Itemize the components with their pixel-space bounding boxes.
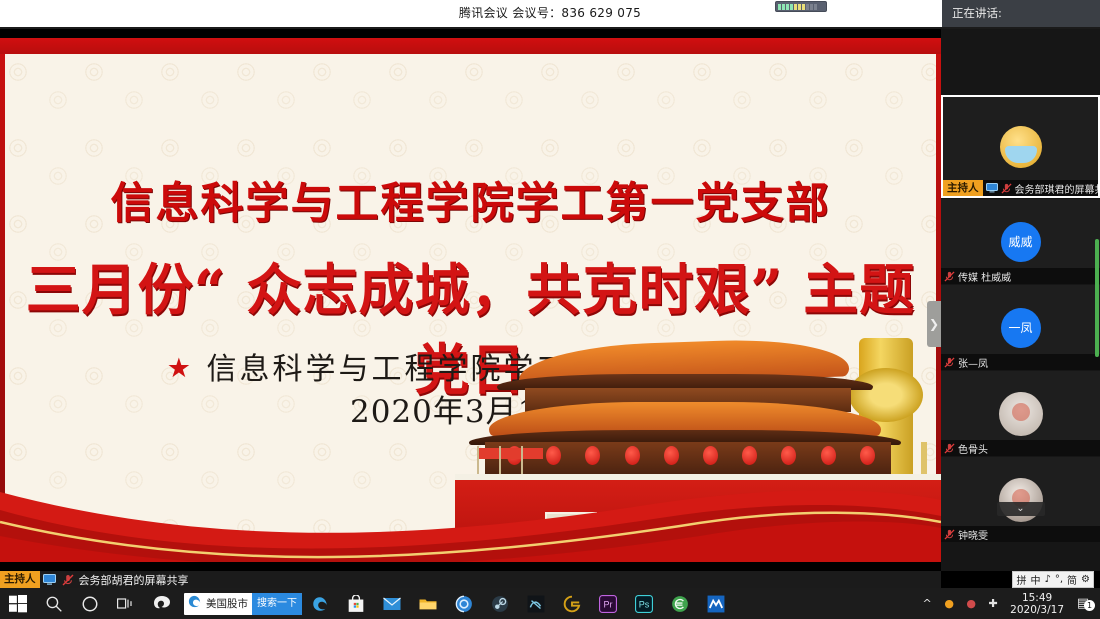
premiere-pro-icon: Pr — [599, 595, 617, 613]
participant-name-1: 传媒 杜威威 — [958, 269, 1011, 284]
lantern-row-icon — [495, 446, 887, 472]
blue-circle-app-icon — [455, 595, 473, 613]
mic-muted-icon — [944, 271, 955, 282]
search-button[interactable] — [36, 588, 72, 619]
file-explorer-icon — [419, 595, 437, 613]
meeting-top-bar: 腾讯会议 会议号：836 629 075 正在讲话: — [0, 0, 1100, 29]
search-icon — [45, 595, 63, 613]
mic-muted-icon — [944, 443, 955, 454]
avatar: 威威 — [1001, 222, 1041, 262]
participant-tile-0[interactable]: 主持人 会务部琪君的屏幕共... — [941, 95, 1100, 198]
participant-rail-scrollbar[interactable] — [1095, 239, 1099, 357]
app-blue-circle[interactable] — [446, 588, 482, 619]
screen-share-icon — [43, 574, 56, 585]
ime-simplified-mode[interactable]: 简 — [1067, 572, 1077, 587]
participant-name-3: 色骨头 — [958, 441, 988, 456]
ime-pinyin-icon[interactable]: 拼 — [1016, 572, 1026, 587]
cortana-circle-icon — [81, 595, 99, 613]
ime-punctuation-icon[interactable]: °, — [1055, 574, 1063, 585]
shared-screen-region[interactable]: 信息科学与工程学院学工第一党支部 三月份“ 众志成城，共克时艰” 主题党日 ★ … — [0, 29, 941, 571]
bluetooth-icon[interactable]: ✚ — [982, 597, 1004, 610]
participant-rail[interactable]: 主持人 会务部琪君的屏幕共... 威威 传媒 杜威威 — [941, 29, 1100, 571]
app-blue-m[interactable] — [698, 588, 734, 619]
sogou-browser-icon — [153, 595, 171, 613]
app-premiere-pro[interactable]: Pr — [590, 588, 626, 619]
chevron-up-icon[interactable]: ^ — [916, 597, 938, 610]
ime-sound-icon[interactable]: ♪ — [1044, 574, 1050, 585]
search-query-text: 美国股市 — [204, 596, 252, 611]
participant-tile-4[interactable]: ⌄ 钟晓雯 — [941, 457, 1100, 542]
ime-chinese-mode[interactable]: 中 — [1030, 572, 1040, 587]
task-view-button[interactable] — [108, 588, 144, 619]
participant-tile-1[interactable]: 威威 传媒 杜威威 — [941, 199, 1100, 284]
cortana-button[interactable] — [72, 588, 108, 619]
slide-ribbon-decoration — [0, 470, 941, 562]
mail-icon — [383, 595, 401, 613]
ime-language-bar[interactable]: 拼 中 ♪ °, 简 ⚙ — [1012, 571, 1094, 588]
participant-label-0: 主持人 会务部琪君的屏幕共... — [943, 180, 1098, 196]
app-file-explorer[interactable] — [410, 588, 446, 619]
host-share-label: 会务部胡君的屏幕共享 — [79, 572, 189, 588]
app-dark-tool[interactable] — [518, 588, 554, 619]
orange-status-icon[interactable]: ● — [938, 597, 960, 610]
edge-icon — [311, 595, 329, 613]
star-icon-left: ★ — [167, 353, 194, 384]
blue-m-app-icon — [707, 595, 725, 613]
participant-tile-2[interactable]: 一凤 张—凤 — [941, 285, 1100, 370]
edge-logo-icon — [184, 594, 204, 613]
participant-name-0: 会务部琪君的屏幕共... — [1015, 181, 1099, 196]
mic-muted-icon — [62, 574, 74, 586]
search-submit-button[interactable]: 搜索一下 — [252, 593, 302, 615]
participant-tile-3[interactable]: 色骨头 — [941, 371, 1100, 456]
microsoft-store-icon — [347, 595, 365, 613]
slide-headline-primary: 信息科学与工程学院学工第一党支部 — [0, 169, 941, 231]
mic-muted-icon — [1001, 183, 1012, 194]
ime-settings-gear-icon[interactable]: ⚙ — [1081, 574, 1090, 585]
network-icon[interactable]: ● — [960, 597, 982, 610]
steam-icon — [491, 595, 509, 613]
windows-start-icon — [9, 595, 27, 613]
notification-icon[interactable]: ▤ 1 — [1070, 596, 1096, 611]
clock-time: 15:49 — [1022, 592, 1052, 604]
participant-label-2: 张—凤 — [941, 354, 1100, 370]
participant-label-4: 钟晓雯 — [941, 526, 1100, 542]
speaking-indicator: 正在讲话: — [942, 0, 1100, 27]
participant-name-2: 张—凤 — [958, 355, 988, 370]
start-button[interactable] — [0, 588, 36, 619]
app-green-circle[interactable] — [662, 588, 698, 619]
windows-taskbar: 美国股市 搜索一下 — [0, 588, 1100, 619]
participant-name-4: 钟晓雯 — [958, 527, 988, 542]
green-circle-app-icon — [671, 595, 689, 613]
presentation-slide: 信息科学与工程学院学工第一党支部 三月份“ 众志成城，共克时艰” 主题党日 ★ … — [0, 38, 941, 562]
scroll-down-chevron-icon[interactable]: ⌄ — [997, 502, 1045, 516]
app-grammarly[interactable] — [554, 588, 590, 619]
desktop-screen: 腾讯会议 会议号：836 629 075 正在讲话: 信息科学与工程学院学工第一… — [0, 0, 1100, 619]
mic-muted-icon — [944, 529, 955, 540]
meeting-title: 腾讯会议 会议号：836 629 075 — [0, 0, 1100, 27]
taskbar-search-box[interactable]: 美国股市 搜索一下 — [184, 593, 302, 615]
participant-label-3: 色骨头 — [941, 440, 1100, 456]
system-tray: ^ ● ● ✚ 15:49 2020/3/17 ▤ 1 — [916, 588, 1100, 619]
taskbar-clock[interactable]: 15:49 2020/3/17 — [1004, 592, 1070, 616]
dark-app-icon — [527, 595, 545, 613]
task-view-icon — [117, 595, 135, 613]
app-mail[interactable] — [374, 588, 410, 619]
host-badge-tile: 主持人 — [943, 180, 983, 196]
audio-level-meter-icon — [775, 1, 827, 12]
app-edge[interactable] — [302, 588, 338, 619]
app-photoshop[interactable]: Ps — [626, 588, 662, 619]
svg-text:Ps: Ps — [639, 599, 650, 609]
svg-text:Pr: Pr — [604, 599, 613, 609]
sogou-browser-button[interactable] — [144, 588, 180, 619]
host-badge: 主持人 — [0, 571, 40, 588]
app-steam[interactable] — [482, 588, 518, 619]
grammarly-icon — [563, 595, 581, 613]
collapse-share-panel-button[interactable]: ❯ — [927, 301, 941, 347]
slide-top-band — [0, 38, 941, 54]
app-microsoft-store[interactable] — [338, 588, 374, 619]
ribbon-wave-svg — [0, 470, 941, 562]
host-status-bar: 主持人 会务部胡君的屏幕共享 — [0, 571, 941, 588]
avatar: 一凤 — [1001, 308, 1041, 348]
avatar — [1000, 126, 1042, 168]
participant-label-1: 传媒 杜威威 — [941, 268, 1100, 284]
avatar — [999, 392, 1043, 436]
photoshop-icon: Ps — [635, 595, 653, 613]
notification-count: 1 — [1084, 600, 1095, 611]
clock-date: 2020/3/17 — [1010, 604, 1064, 616]
screen-share-icon — [986, 183, 998, 193]
mic-muted-icon — [944, 357, 955, 368]
